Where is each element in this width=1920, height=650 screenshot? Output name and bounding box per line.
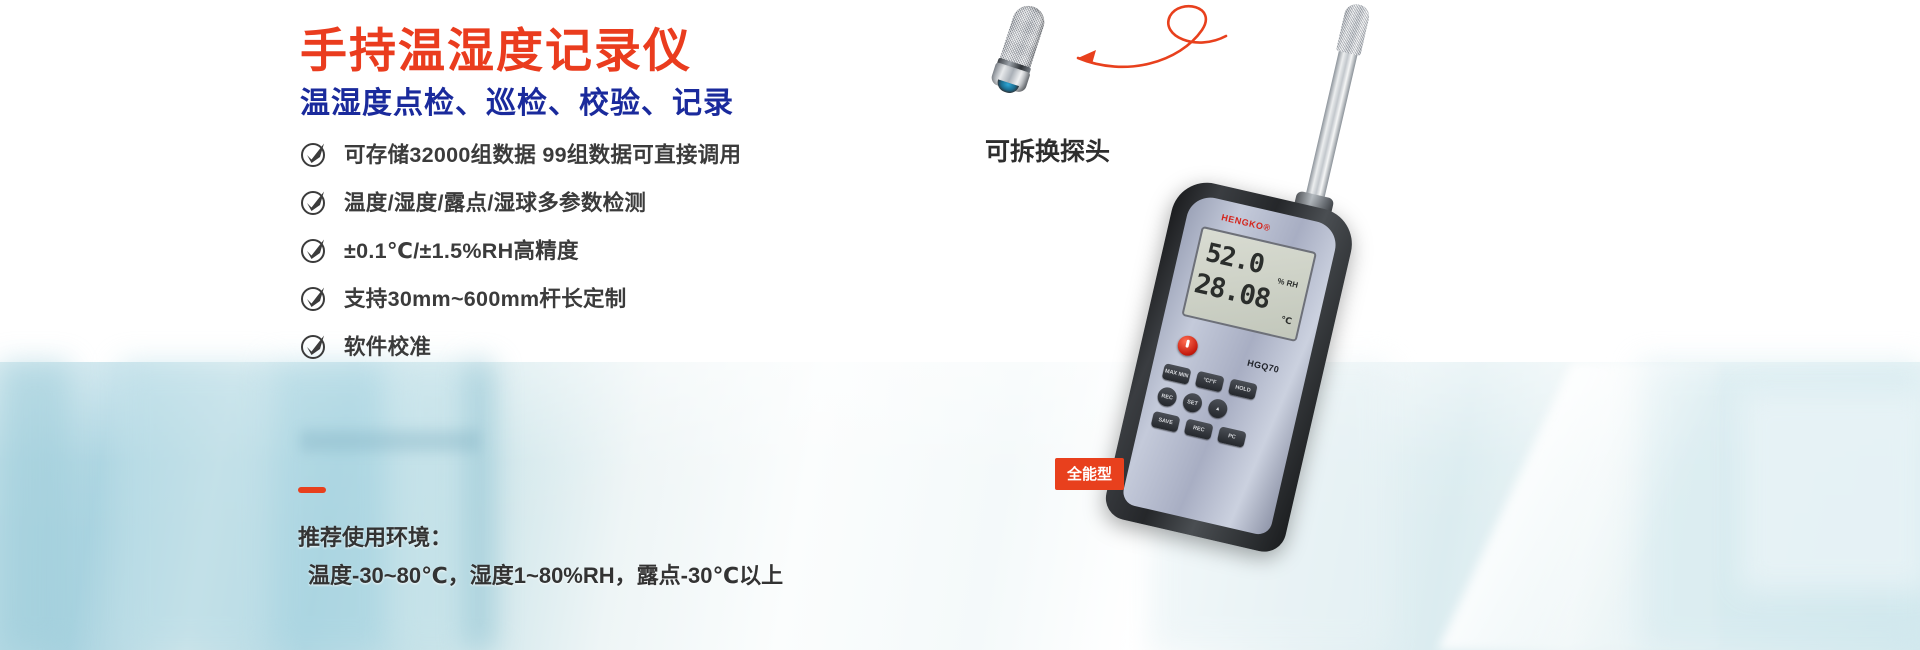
- page-subtitle: 温湿度点检、巡检、校验、记录: [300, 78, 734, 122]
- unit-button[interactable]: °C/°F: [1195, 371, 1225, 393]
- list-item: 温度/湿度/露点/湿球多参数检测: [300, 178, 940, 224]
- list-item-label: ±0.1℃/±1.5%RH高精度: [344, 234, 579, 265]
- meter-front-panel: HENGKO® 52.0 % RH 28.08 ℃ HGQ70 MAX MIN …: [1121, 193, 1341, 537]
- max-min-button[interactable]: MAX MIN: [1162, 363, 1192, 385]
- lcd-display: 52.0 % RH 28.08 ℃: [1181, 226, 1317, 342]
- list-item: 支持30mm~600mm杆长定制: [300, 274, 940, 320]
- lcd-humidity-unit: % RH: [1277, 276, 1299, 289]
- keypad: MAX MIN °C/°F HOLD REC SET ▲ SAVE REC PC: [1149, 363, 1290, 462]
- meter-probe-sensor-head: [1336, 2, 1372, 56]
- check-circle-icon: [300, 284, 328, 312]
- feature-list: 可存储32000组数据 99组数据可直接调用 温度/湿度/露点/湿球多参数检测: [300, 130, 940, 370]
- status-badge: 全能型: [1055, 458, 1124, 490]
- list-item-label: 可存储32000组数据 99组数据可直接调用: [344, 138, 741, 169]
- list-item-label: 软件校准: [344, 330, 431, 361]
- lcd-temperature-unit: ℃: [1280, 314, 1293, 327]
- up-button[interactable]: ▲: [1206, 397, 1229, 420]
- check-circle-icon: [300, 140, 328, 168]
- list-item: 可存储32000组数据 99组数据可直接调用: [300, 130, 940, 176]
- list-item: ±0.1℃/±1.5%RH高精度: [300, 226, 940, 272]
- model-label: HGQ70: [1246, 358, 1280, 375]
- probe-label: 可拆换探头: [985, 132, 1110, 168]
- list-item: 软件校准: [300, 322, 940, 368]
- rec-button[interactable]: REC: [1156, 386, 1179, 409]
- check-circle-icon: [300, 188, 328, 216]
- environment-spec: 温度-30~80℃，湿度1~80%RH，露点-30℃以上: [308, 558, 783, 590]
- meter-body: HENGKO® 52.0 % RH 28.08 ℃ HGQ70 MAX MIN …: [1101, 176, 1359, 556]
- record-button[interactable]: REC: [1184, 419, 1214, 441]
- brand-logo: HENGKO®: [1220, 212, 1271, 233]
- save-button[interactable]: SAVE: [1151, 411, 1181, 433]
- hold-button[interactable]: HOLD: [1228, 378, 1258, 400]
- check-circle-icon: [300, 332, 328, 360]
- accent-dash: [298, 487, 326, 493]
- pc-button[interactable]: PC: [1217, 426, 1247, 448]
- product-banner: 手持温湿度记录仪 温湿度点检、巡检、校验、记录 可存储32000组数据 99组数…: [0, 0, 1920, 650]
- copy-column: 手持温湿度记录仪 温湿度点检、巡检、校验、记录 可存储32000组数据 99组数…: [0, 0, 980, 650]
- list-item-label: 支持30mm~600mm杆长定制: [344, 282, 627, 313]
- check-circle-icon: [300, 236, 328, 264]
- page-title: 手持温湿度记录仪: [300, 12, 692, 81]
- power-button[interactable]: [1176, 334, 1200, 358]
- set-button[interactable]: SET: [1181, 391, 1204, 414]
- environment-title: 推荐使用环境：: [298, 520, 452, 552]
- list-item-label: 温度/湿度/露点/湿球多参数检测: [344, 186, 646, 217]
